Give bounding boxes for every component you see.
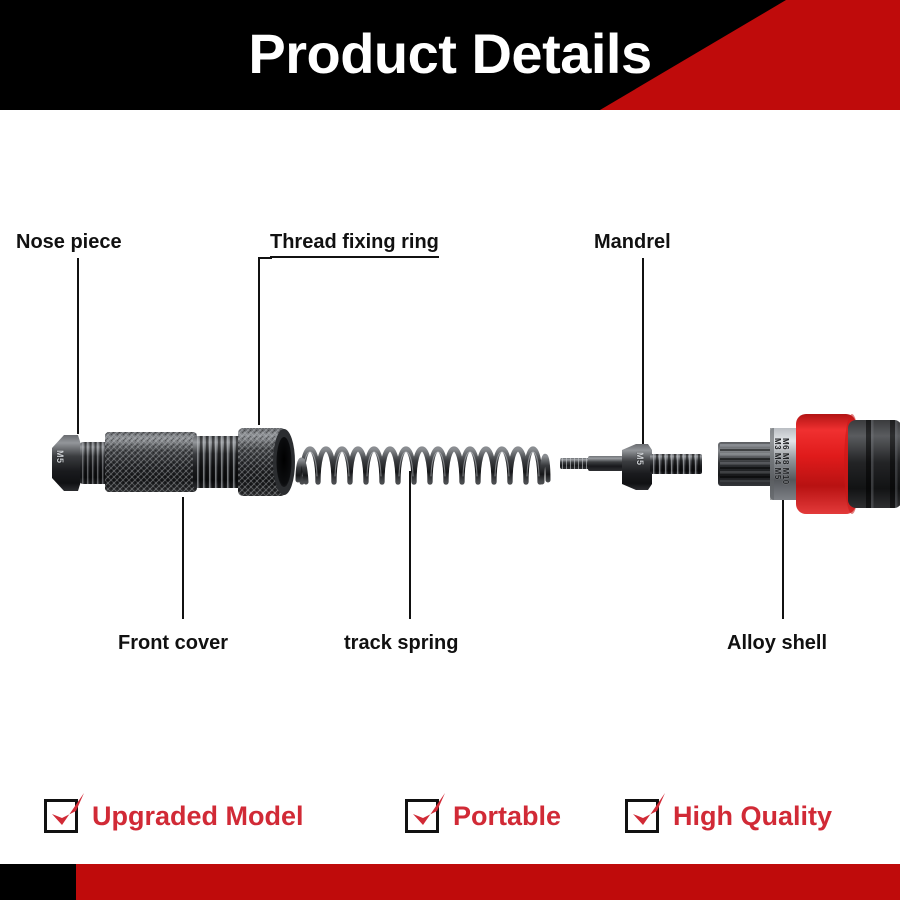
leader-line-track-spring — [409, 471, 411, 619]
checkbox-checked-icon[interactable] — [44, 799, 78, 833]
nose-piece-size-marking: M5 — [55, 450, 65, 464]
label-mandrel: Mandrel — [594, 231, 671, 254]
page-title: Product Details — [0, 0, 900, 110]
header-banner: Product Details — [0, 0, 900, 110]
label-front-cover: Front cover — [118, 632, 228, 655]
mandrel-size-marking: M5 — [635, 452, 645, 466]
label-track-spring: track spring — [344, 632, 458, 655]
label-nose-piece: Nose piece — [16, 231, 122, 254]
leader-line-nose-piece — [77, 258, 79, 434]
feature-item-upgraded-model[interactable]: Upgraded Model — [44, 794, 304, 838]
feature-label: Upgraded Model — [92, 801, 304, 832]
leader-line-thread-fixing-ring — [258, 258, 260, 425]
part-track-spring — [296, 430, 552, 492]
checkbox-checked-icon[interactable] — [405, 799, 439, 833]
part-alloy-shell: M3 M4 M5 M6 M8 M10 — [718, 398, 900, 528]
feature-item-high-quality[interactable]: High Quality — [625, 794, 832, 838]
feature-label: Portable — [453, 801, 561, 832]
product-details-infographic: Product Details Nose piece Thread fixing… — [0, 0, 900, 900]
footer-bar — [0, 864, 900, 900]
alloy-shell-marking-line2: M6 M8 M10 — [781, 438, 790, 485]
footer-left-block — [0, 864, 76, 900]
label-thread-fixing-ring: Thread fixing ring — [270, 231, 439, 258]
leader-line-front-cover — [182, 497, 184, 619]
leader-line-mandrel — [642, 258, 644, 450]
feature-label: High Quality — [673, 801, 832, 832]
part-thread-fixing-ring — [236, 424, 298, 500]
checkbox-checked-icon[interactable] — [625, 799, 659, 833]
label-alloy-shell: Alloy shell — [727, 632, 827, 655]
part-mandrel: M5 — [560, 442, 708, 494]
feature-item-portable[interactable]: Portable — [405, 794, 561, 838]
leader-elbow-thread-fixing-ring — [258, 257, 272, 259]
